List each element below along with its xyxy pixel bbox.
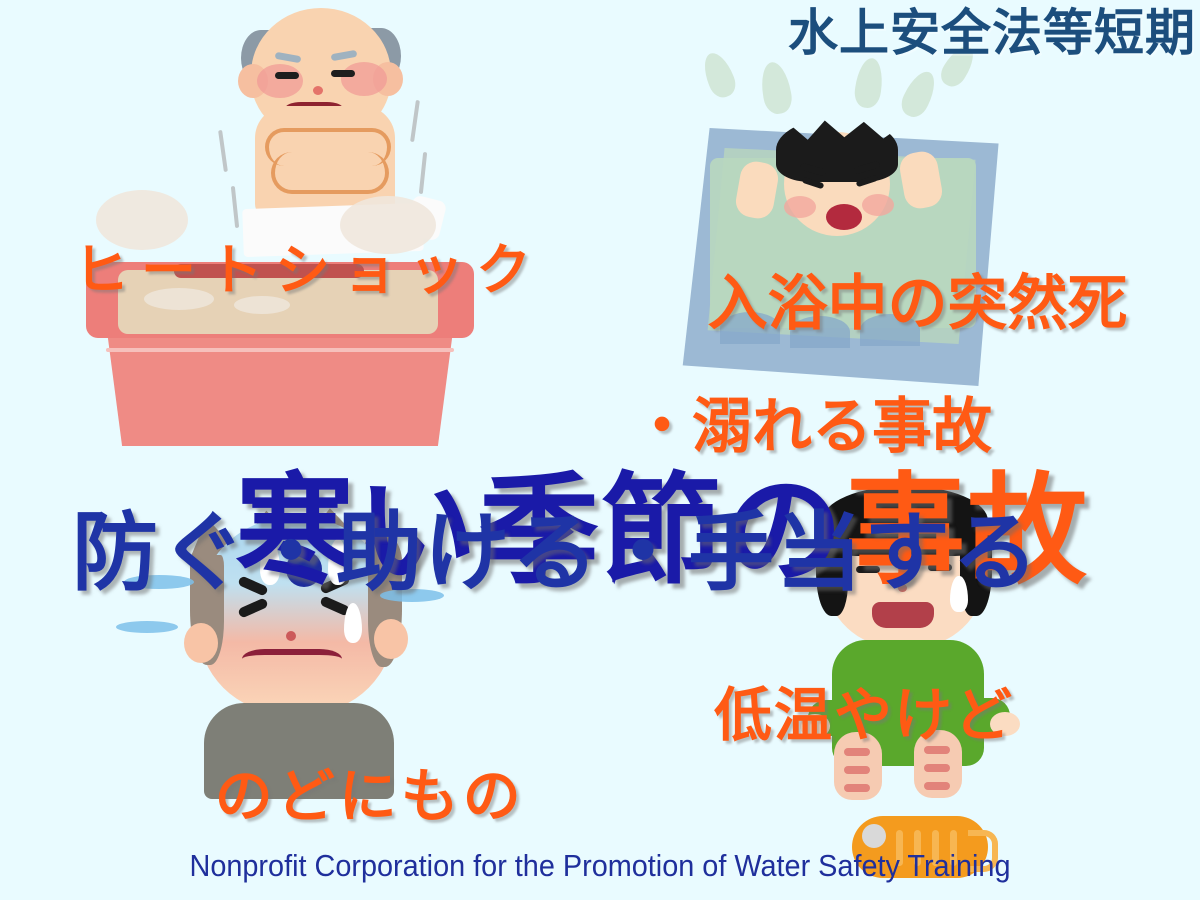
label-drowning-line1: 入浴中の突然死 [708,269,1128,339]
page-subtitle: 防ぐ・助ける・手当する [72,510,1040,596]
footer-organization-name: Nonprofit Corporation for the Promotion … [42,850,1158,881]
label-low-temperature-burn: 低温やけど [714,686,1014,744]
label-heat-shock: ヒートショック [74,243,543,298]
header-title: 水上安全法等短期 [788,8,1196,58]
label-choking-line1: のどにもの [215,762,525,830]
poster-canvas: 水上安全法等短期 ヒートショック 入浴中の突然死 ・溺れる事故 寒い季節の事故 … [0,0,1200,900]
steam-drop [698,49,739,101]
